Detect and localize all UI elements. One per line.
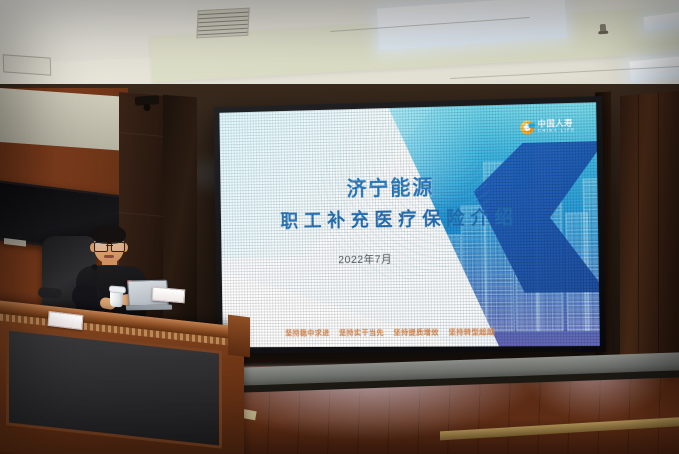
china-life-circle-mark-icon bbox=[520, 120, 534, 134]
person-mouth bbox=[104, 255, 114, 258]
slogan-item: 坚持转型超越 bbox=[448, 327, 494, 338]
nameplate bbox=[152, 287, 186, 304]
slogan-item: 坚持提质增效 bbox=[393, 327, 439, 338]
ceiling-camera-icon bbox=[135, 95, 160, 106]
nameplate-text bbox=[49, 315, 82, 319]
tv-brand-label bbox=[4, 238, 26, 247]
fire-sprinkler-icon bbox=[600, 24, 607, 33]
desk-front-panel bbox=[6, 327, 222, 448]
china-life-logo: 中国人寿 CHINA LIFE bbox=[520, 119, 575, 134]
ceiling-recessed-panel bbox=[3, 54, 52, 75]
right-wood-wall bbox=[620, 91, 679, 386]
person-glasses bbox=[94, 242, 125, 250]
logo-english-text: CHINA LIFE bbox=[538, 129, 576, 134]
air-vent-grille-icon bbox=[196, 8, 249, 39]
desk-side-return bbox=[228, 315, 250, 358]
led-presentation-screen[interactable]: 中国人寿 CHINA LIFE 济宁能源 职工补充医疗保险介绍 2022年7月 … bbox=[214, 96, 606, 353]
presentation-slide: 中国人寿 CHINA LIFE 济宁能源 职工补充医疗保险介绍 2022年7月 … bbox=[219, 102, 600, 347]
chair-armrest bbox=[38, 287, 63, 299]
nameplate-text bbox=[153, 291, 184, 294]
conference-room-photo: 中国人寿 CHINA LIFE 济宁能源 职工补充医疗保险介绍 2022年7月 … bbox=[0, 0, 679, 454]
screen-surface: 中国人寿 CHINA LIFE 济宁能源 职工补充医疗保险介绍 2022年7月 … bbox=[219, 102, 600, 347]
slogan-item: 坚持稳中求进 bbox=[285, 328, 330, 339]
tea-cup-icon bbox=[110, 289, 123, 308]
desk-bottom-edge bbox=[0, 450, 244, 454]
slide-slogan-row: 坚持稳中求进 坚持实干当先 坚持提质增效 坚持转型超越 bbox=[223, 327, 600, 340]
slogan-item: 坚持实干当先 bbox=[339, 328, 384, 339]
podium-desk bbox=[0, 300, 244, 454]
